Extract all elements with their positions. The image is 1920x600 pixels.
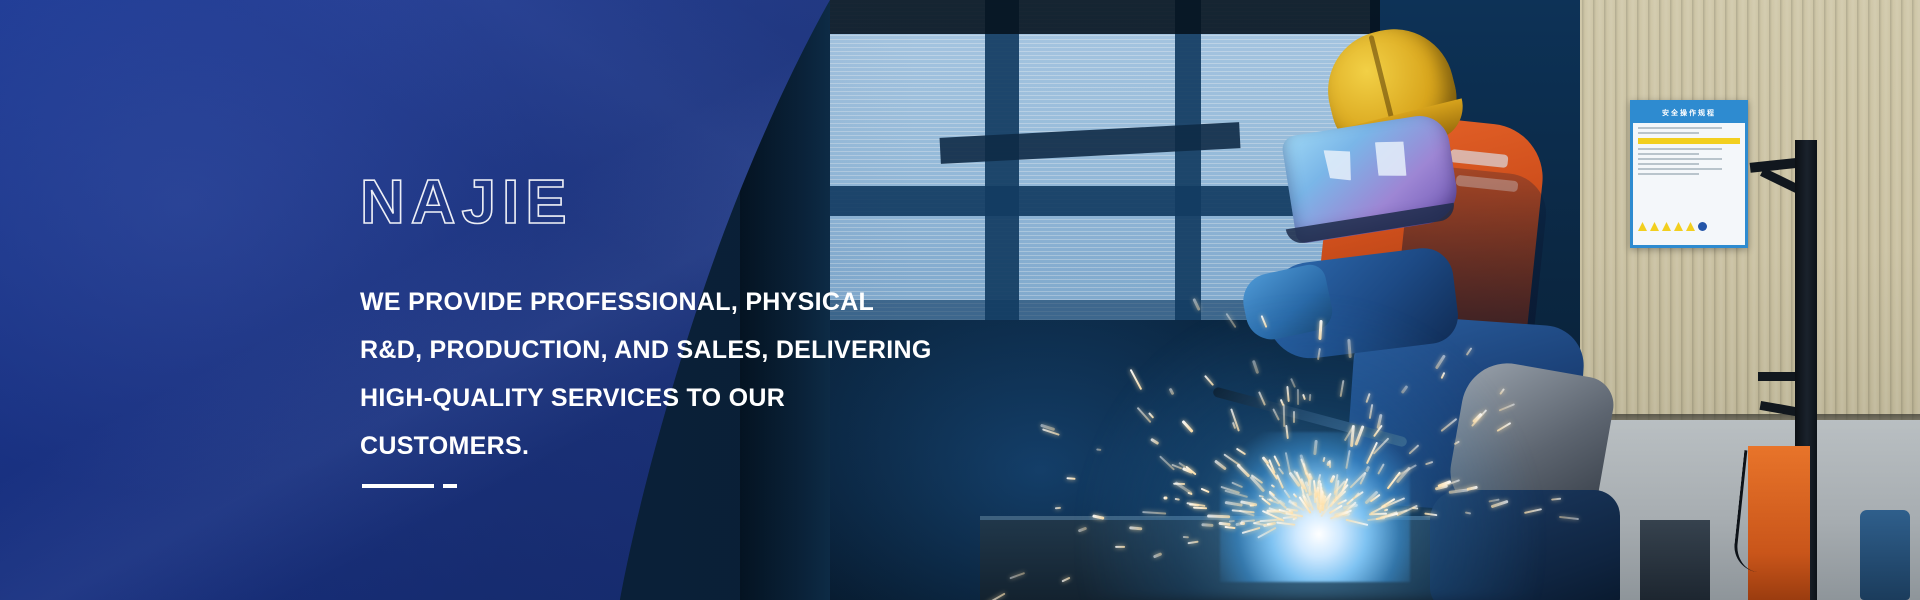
spark <box>1283 404 1286 427</box>
spark <box>1152 552 1161 558</box>
spark <box>1499 389 1505 396</box>
spark <box>1228 520 1234 523</box>
spark <box>1368 404 1373 419</box>
spark <box>1129 527 1142 531</box>
spark <box>1448 488 1469 494</box>
spark <box>1187 541 1198 545</box>
spark <box>1174 498 1179 501</box>
spark <box>1524 508 1542 514</box>
spark <box>1271 484 1276 488</box>
spark <box>1400 385 1408 394</box>
spark <box>1236 463 1250 478</box>
spark <box>1129 369 1142 390</box>
spark <box>1551 498 1561 501</box>
spark <box>1224 526 1235 529</box>
spark <box>1497 422 1512 432</box>
spark <box>1142 511 1166 515</box>
spark <box>1384 508 1388 511</box>
accent-dash-long <box>362 484 434 488</box>
spark <box>1067 478 1076 481</box>
hero-content: NAJIE WE PROVIDE PROFESSIONAL, PHYSICAL … <box>360 0 980 600</box>
spark <box>1278 467 1284 475</box>
spark <box>1183 536 1189 538</box>
spark <box>1259 495 1264 498</box>
spark <box>1062 577 1071 583</box>
spark <box>1320 483 1322 505</box>
spark <box>1077 526 1087 532</box>
spark <box>1559 516 1579 520</box>
spark <box>1201 488 1210 493</box>
spark <box>1168 388 1174 395</box>
spark <box>1369 512 1387 515</box>
spark <box>1339 380 1344 397</box>
spark <box>1252 360 1259 374</box>
spark <box>1054 507 1060 510</box>
spark <box>1284 452 1290 474</box>
spark <box>1346 519 1369 526</box>
spark <box>1201 523 1213 527</box>
spark <box>1181 419 1193 432</box>
spark <box>1241 526 1260 533</box>
spark <box>1467 485 1478 490</box>
spark <box>1092 514 1105 520</box>
spark <box>1193 298 1201 311</box>
spark <box>1499 403 1515 411</box>
spark <box>1297 389 1299 405</box>
spark <box>1204 375 1214 386</box>
spark <box>1193 507 1207 510</box>
spark <box>1189 503 1199 506</box>
spark <box>1318 320 1322 340</box>
spark <box>1354 425 1364 445</box>
spark <box>1207 514 1230 518</box>
spark <box>1424 461 1433 465</box>
spark <box>1290 378 1296 388</box>
spark <box>1231 481 1242 487</box>
accent-rule <box>362 484 457 488</box>
spark <box>1276 474 1284 489</box>
spark <box>1323 456 1326 461</box>
spark <box>1454 441 1460 445</box>
spark <box>1236 448 1246 456</box>
spark <box>1150 438 1159 445</box>
spark <box>1280 398 1284 405</box>
spark <box>1274 455 1281 467</box>
spark <box>1293 411 1295 423</box>
hero-banner: 安全操作规程 <box>0 0 1920 600</box>
spark <box>1317 347 1321 359</box>
spark <box>1159 455 1175 470</box>
spark <box>1226 313 1237 328</box>
spark <box>1096 448 1102 451</box>
spark <box>1465 512 1471 515</box>
spark <box>1164 496 1168 499</box>
spark <box>1465 347 1472 356</box>
spark <box>1441 372 1446 379</box>
tagline-line-4: CUSTOMERS. <box>360 422 970 470</box>
spark <box>1260 315 1267 328</box>
spark <box>986 593 1005 600</box>
spark <box>1313 439 1318 454</box>
spark <box>1425 513 1438 517</box>
spark <box>1412 507 1419 510</box>
spark <box>1258 392 1266 407</box>
tagline-line-2: R&D, PRODUCTION, AND SALES, DELIVERING <box>360 326 970 374</box>
spark <box>1346 450 1351 469</box>
spark <box>1435 355 1446 370</box>
spark <box>1214 460 1227 471</box>
spark <box>1302 393 1306 399</box>
spark <box>1347 339 1351 358</box>
spark <box>1286 386 1289 402</box>
spark <box>1285 425 1289 439</box>
spark <box>1283 490 1290 499</box>
spark <box>1009 572 1024 579</box>
spark <box>1292 493 1297 498</box>
spark <box>1148 412 1154 418</box>
tagline: WE PROVIDE PROFESSIONAL, PHYSICAL R&D, P… <box>360 278 970 470</box>
spark <box>1365 393 1370 403</box>
spark <box>1309 394 1312 401</box>
accent-dash-short <box>443 484 457 488</box>
spark <box>1257 527 1277 539</box>
spark <box>1377 463 1385 474</box>
spark <box>1276 522 1295 526</box>
spark <box>1115 546 1125 548</box>
tagline-line-1: WE PROVIDE PROFESSIONAL, PHYSICAL <box>360 278 970 326</box>
spark <box>1365 466 1370 473</box>
spark <box>1441 418 1458 432</box>
spark <box>1272 408 1280 420</box>
tagline-line-3: HIGH-QUALITY SERVICES TO OUR <box>360 374 970 422</box>
brand-logo: NAJIE <box>360 172 573 234</box>
spark <box>1409 444 1420 454</box>
spark <box>1182 467 1193 474</box>
